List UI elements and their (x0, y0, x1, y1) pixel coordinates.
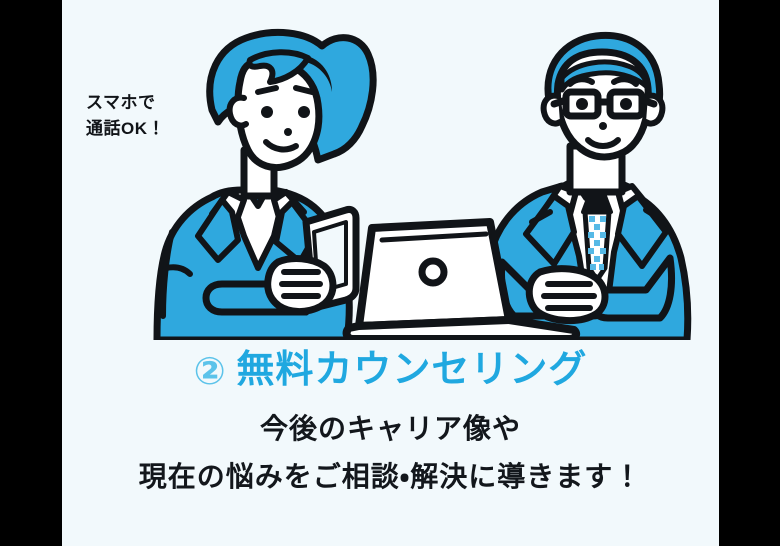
woman-ear (230, 98, 246, 126)
subtitle-block: 今後のキャリア像や 現在の悩みをご相談・解決に導きます！ (62, 405, 719, 501)
woman-eyebrow-left (258, 88, 276, 92)
step-number-badge: ② (194, 351, 226, 393)
man-hands (529, 269, 605, 321)
man-figure (481, 35, 688, 340)
callout-text: スマホで 通話OK！ (86, 90, 216, 141)
man-tie (585, 212, 609, 280)
headline-title: 無料カウンセリング (236, 349, 587, 391)
callout-line-1: スマホで (86, 90, 216, 116)
subtitle-line-1: 今後のキャリア像や (62, 405, 719, 453)
woman-figure (157, 32, 373, 340)
woman-nose (284, 128, 292, 136)
letterbox-bar-right (719, 0, 780, 546)
illustration-group (62, 0, 719, 340)
woman-eye-left (261, 106, 273, 118)
subtitle-line-2: 現在の悩みをご相談・解決に導きます！ (62, 453, 719, 501)
woman-hand (268, 259, 333, 312)
woman-eyebrow-right (296, 88, 312, 92)
content-canvas: スマホで 通話OK！ (62, 0, 719, 546)
screenshot-stage: スマホで 通話OK！ (0, 0, 780, 546)
page-title: ② 無料カウンセリング (62, 338, 719, 394)
laptop-base (347, 320, 576, 339)
woman-eye-right (298, 106, 310, 118)
letterbox-bar-left (0, 0, 62, 546)
man-nose (599, 122, 607, 130)
callout-line-2: 通話OK！ (86, 116, 216, 142)
